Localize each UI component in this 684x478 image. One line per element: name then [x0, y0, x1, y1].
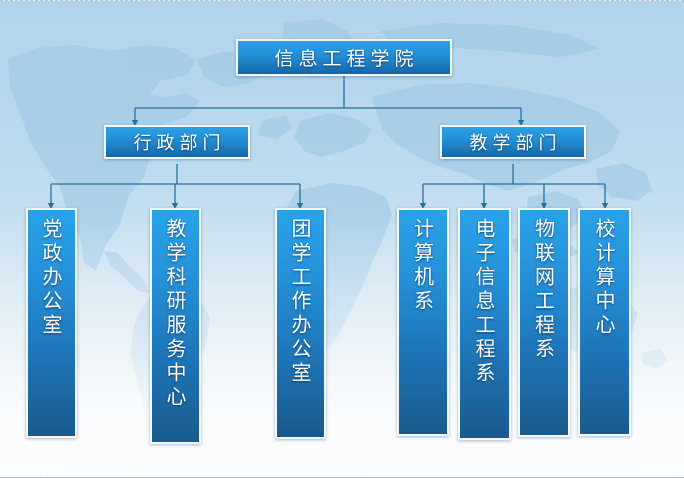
- node-admin-department[interactable]: 行政部门: [104, 125, 250, 159]
- node-youth-league-student-affairs-office[interactable]: 团学工作办公室: [275, 208, 326, 439]
- node-iot-engineering-department[interactable]: 物联网工程系: [518, 208, 570, 437]
- node-computer-science-department[interactable]: 计算机系: [397, 208, 449, 436]
- node-electronic-information-engineering-department[interactable]: 电子信息工程系: [458, 208, 511, 440]
- node-admin-department-label: 行政部门: [129, 129, 226, 155]
- node-party-admin-office-label: 党政办公室: [37, 218, 66, 338]
- node-iot-engineering-department-label: 物联网工程系: [530, 218, 559, 362]
- node-teaching-department[interactable]: 教学部门: [440, 125, 586, 159]
- node-root[interactable]: 信息工程学院: [236, 39, 452, 76]
- node-root-label: 信息工程学院: [269, 44, 418, 71]
- node-youth-league-student-affairs-office-label: 团学工作办公室: [286, 218, 315, 386]
- node-party-admin-office[interactable]: 党政办公室: [26, 208, 77, 438]
- node-teaching-department-label: 教学部门: [465, 129, 562, 155]
- node-teaching-research-service-center[interactable]: 教学科研服务中心: [150, 208, 201, 444]
- node-computer-science-department-label: 计算机系: [409, 218, 438, 314]
- node-teaching-research-service-center-label: 教学科研服务中心: [161, 218, 190, 410]
- node-electronic-information-engineering-department-label: 电子信息工程系: [470, 218, 499, 386]
- node-university-computing-center[interactable]: 校计算中心: [578, 208, 631, 436]
- node-university-computing-center-label: 校计算中心: [590, 218, 619, 338]
- org-chart-canvas: 信息工程学院 行政部门 教学部门 党政办公室 教学科研服务中心 团学工作办公室 …: [0, 0, 684, 478]
